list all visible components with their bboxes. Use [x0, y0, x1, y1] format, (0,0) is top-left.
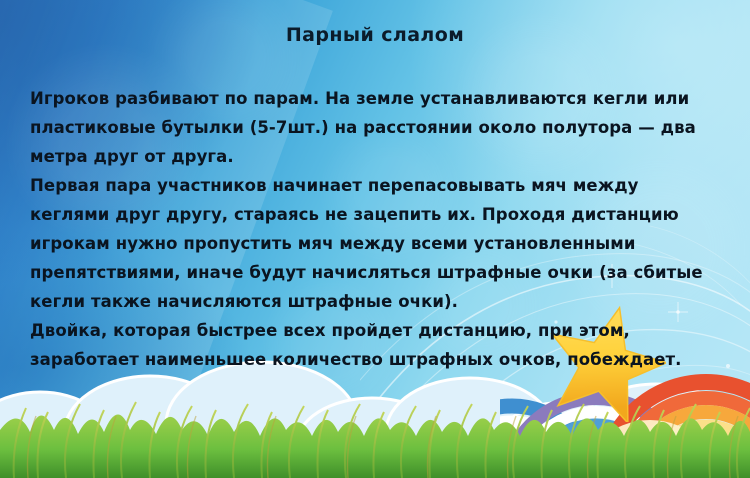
page-title: Парный слалом	[0, 24, 750, 46]
paragraph-3: Двойка, которая быстрее всех пройдет дис…	[30, 316, 722, 374]
body-text-block: Игроков разбивают по парам. На земле уст…	[30, 84, 722, 374]
paragraph-1: Игроков разбивают по парам. На земле уст…	[30, 84, 722, 171]
slide-canvas: Парный слалом Игроков разбивают по парам…	[0, 0, 750, 478]
paragraph-2: Первая пара участников начинает перепасо…	[30, 171, 722, 316]
grass-band	[0, 386, 750, 478]
